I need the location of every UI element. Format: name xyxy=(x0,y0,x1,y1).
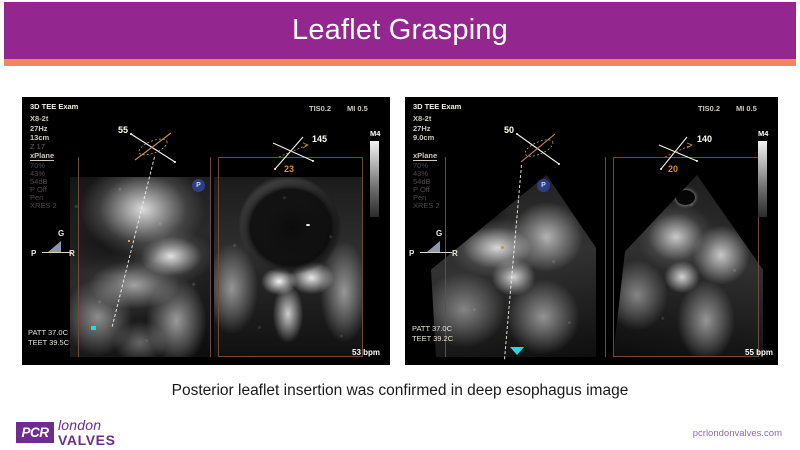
us-right-plane-marker[interactable]: P xyxy=(537,179,550,192)
us-right-probe: X8-2t xyxy=(413,115,431,123)
us-right-angle-b: 140 xyxy=(697,135,712,144)
us-left-patient-temp: PATT 37.0C xyxy=(28,329,68,337)
ultrasound-panel-left[interactable]: 3D TEE Exam X8-2t 27Hz 13cm Z 17 xPlane … xyxy=(22,97,390,365)
us-right-aorta-lumen xyxy=(676,190,695,205)
us-left-mode: xPlane xyxy=(30,152,54,161)
us-left-angle-a: 55 xyxy=(118,126,128,135)
us-right-caliper-point xyxy=(501,246,504,249)
us-left-angle-b: 145 xyxy=(312,135,327,144)
logo-london-text: london xyxy=(58,418,116,432)
us-left-pane-divider-1 xyxy=(78,157,79,357)
us-right-exam-mode: 3D TEE Exam xyxy=(413,103,461,111)
us-right-biplane-view-b xyxy=(613,175,763,357)
us-right-gain-bar xyxy=(758,141,767,217)
us-left-orientation-baseline xyxy=(42,252,72,253)
pcr-badge: PCR xyxy=(16,422,54,443)
footer-website-url[interactable]: pcrlondonvalves.com xyxy=(693,428,782,439)
us-left-orientation-top: G xyxy=(58,230,64,238)
us-left-m-marker: M4 xyxy=(370,130,380,138)
us-left-plane-marker[interactable]: P xyxy=(192,179,205,192)
us-left-pane-divider-4 xyxy=(362,157,363,357)
us-left-exam-mode: 3D TEE Exam xyxy=(30,103,78,111)
us-right-m-marker: M4 xyxy=(758,130,768,138)
us-left-gain-bar xyxy=(370,141,379,217)
ultrasound-panel-right[interactable]: 3D TEE Exam X8-2t 27Hz 9.0cm xPlane 70% … xyxy=(405,97,778,365)
us-left-depth: 13cm xyxy=(30,134,49,142)
pcr-london-valves-logo: PCR london VALVES xyxy=(16,418,116,447)
us-right-heart-rate: 55 bpm xyxy=(745,349,773,357)
us-left-bright-speckle xyxy=(306,224,310,226)
us-right-patient-temp: PATT 37.0C xyxy=(412,325,452,333)
page-title: Leaflet Grasping xyxy=(292,14,508,47)
us-left-mechanical-index: MI 0.5 xyxy=(347,105,368,113)
us-right-biplane-view-a xyxy=(431,175,596,357)
us-right-orientation-baseline xyxy=(420,252,452,253)
us-left-thermal-index: TIS0.2 xyxy=(309,105,331,113)
us-left-probe-temp: TEET 39.5C xyxy=(28,339,69,347)
logo-valves-text: VALVES xyxy=(58,433,116,447)
us-right-gain-5: XRES 2 xyxy=(413,202,440,210)
us-left-pane-divider-3 xyxy=(218,157,219,357)
us-right-pane-divider-2 xyxy=(605,157,606,357)
us-left-angle-c: 23 xyxy=(284,165,294,174)
us-left-gain-5: XRES 2 xyxy=(30,202,57,210)
us-right-mechanical-index: MI 0.5 xyxy=(736,105,757,113)
us-left-heart-rate: 53 bpm xyxy=(352,349,380,357)
us-left-pane-bottom-edge xyxy=(218,356,363,357)
us-right-orientation-triangle xyxy=(427,241,440,252)
slide-canvas: Leaflet Grasping 3D TEE Exam X8-2t 27Hz … xyxy=(0,0,800,450)
slide-title-bar: Leaflet Grasping xyxy=(4,2,796,59)
logo-wordmark: london VALVES xyxy=(58,418,116,447)
us-right-orientation-left: P xyxy=(409,250,414,258)
us-left-biplane-view-b xyxy=(214,177,362,357)
us-left-biplane-view-a xyxy=(70,177,210,357)
us-right-cyan-arrow-marker xyxy=(510,347,524,355)
us-left-orientation-left: P xyxy=(31,250,36,258)
us-right-orientation-top: G xyxy=(436,230,442,238)
us-right-pane-bottom-edge xyxy=(613,356,759,357)
us-left-zoom-setting: Z 17 xyxy=(30,143,45,151)
us-right-thermal-index: TIS0.2 xyxy=(698,105,720,113)
us-left-cyan-tick-marker xyxy=(91,326,96,330)
title-accent-rule xyxy=(4,59,796,66)
us-left-caliper-point xyxy=(128,240,130,242)
us-right-depth: 9.0cm xyxy=(413,134,434,142)
us-right-angle-c: 20 xyxy=(668,165,678,174)
us-right-pane-divider-3 xyxy=(613,157,614,357)
us-left-frame-rate: 27Hz xyxy=(30,125,48,133)
us-right-frame-rate: 27Hz xyxy=(413,125,431,133)
us-right-probe-temp: TEET 39.2C xyxy=(412,335,453,343)
us-left-orientation-triangle xyxy=(48,241,61,252)
us-right-angle-a: 50 xyxy=(504,126,514,135)
us-right-orientation-right: R xyxy=(452,250,458,258)
slide-caption: Posterior leaflet insertion was confirme… xyxy=(0,382,800,400)
us-left-probe: X8-2t xyxy=(30,115,48,123)
us-left-pane-divider-2 xyxy=(210,157,211,357)
us-right-mode: xPlane xyxy=(413,152,437,161)
